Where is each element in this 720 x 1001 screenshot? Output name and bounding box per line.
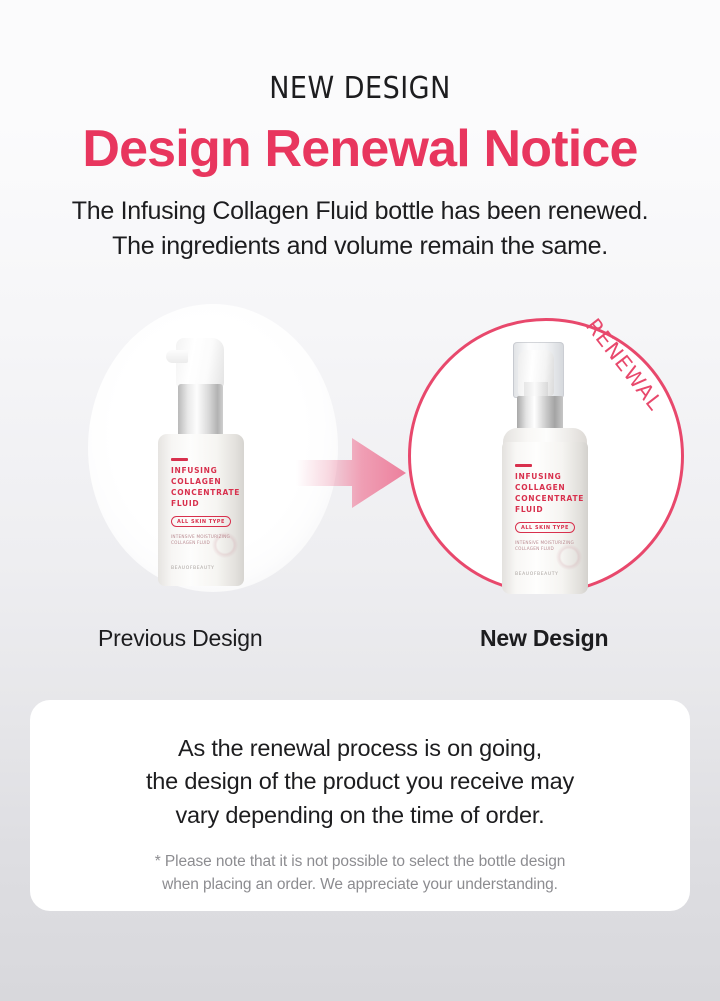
label-brand-mark: BEAUOFBEAUTY <box>171 566 240 571</box>
notice-main-text: As the renewal process is on going, the … <box>30 732 690 832</box>
subtitle-line-2: The ingredients and volume remain the sa… <box>0 229 720 264</box>
label-line-4: FLUID <box>171 499 240 510</box>
label-seal-emblem <box>212 532 238 558</box>
label-accent-dash <box>171 458 188 461</box>
notice-main-line-2: the design of the product you receive ma… <box>30 765 690 798</box>
label-accent-dash <box>515 464 532 467</box>
label-skin-type-badge: ALL SKIN TYPE <box>515 522 575 533</box>
notice-main-line-3: vary depending on the time of order. <box>30 799 690 832</box>
notice-disclaimer-text: * Please note that it is not possible to… <box>30 850 690 897</box>
notice-note-line-1: * Please note that it is not possible to… <box>30 850 690 873</box>
subtitle-line-1: The Infusing Collagen Fluid bottle has b… <box>0 194 720 229</box>
notice-card: As the renewal process is on going, the … <box>30 700 690 911</box>
page-header: NEW DESIGN Design Renewal Notice The Inf… <box>0 0 720 263</box>
label-line-3: CONCENTRATE <box>515 494 584 505</box>
bottle-body: INFUSING COLLAGEN CONCENTRATE FLUID ALL … <box>502 442 588 594</box>
caption-previous-design: Previous Design <box>98 625 262 652</box>
label-skin-type-badge: ALL SKIN TYPE <box>171 516 231 527</box>
bottle-body: INFUSING COLLAGEN CONCENTRATE FLUID ALL … <box>158 434 244 586</box>
bottle-silver-collar <box>178 384 223 438</box>
eyebrow-label: NEW DESIGN <box>0 74 720 104</box>
bottle-pump-cap <box>176 338 224 388</box>
label-line-4: FLUID <box>515 505 584 516</box>
label-line-3: CONCENTRATE <box>171 488 240 499</box>
previous-design-bottle: INFUSING COLLAGEN CONCENTRATE FLUID ALL … <box>158 338 244 586</box>
label-line-2: COLLAGEN <box>515 483 584 494</box>
label-line-1: INFUSING <box>515 472 584 483</box>
arrow-right-icon <box>296 436 408 510</box>
label-brand-mark: BEAUOFBEAUTY <box>515 572 584 577</box>
label-line-1: INFUSING <box>171 466 240 477</box>
bottle-pump-nozzle <box>166 350 188 363</box>
new-design-bottle: INFUSING COLLAGEN CONCENTRATE FLUID ALL … <box>500 342 590 594</box>
page-title: Design Renewal Notice <box>0 122 720 176</box>
bottle-silver-collar <box>517 396 563 432</box>
label-seal-emblem <box>556 544 582 570</box>
transition-arrow-wrapper <box>296 436 408 510</box>
caption-new-design: New Design <box>480 625 608 652</box>
notice-main-line-1: As the renewal process is on going, <box>30 732 690 765</box>
page-subtitle: The Infusing Collagen Fluid bottle has b… <box>0 194 720 263</box>
label-line-2: COLLAGEN <box>171 477 240 488</box>
notice-note-line-2: when placing an order. We appreciate you… <box>30 873 690 896</box>
promo-page: NEW DESIGN Design Renewal Notice The Inf… <box>0 0 720 1001</box>
